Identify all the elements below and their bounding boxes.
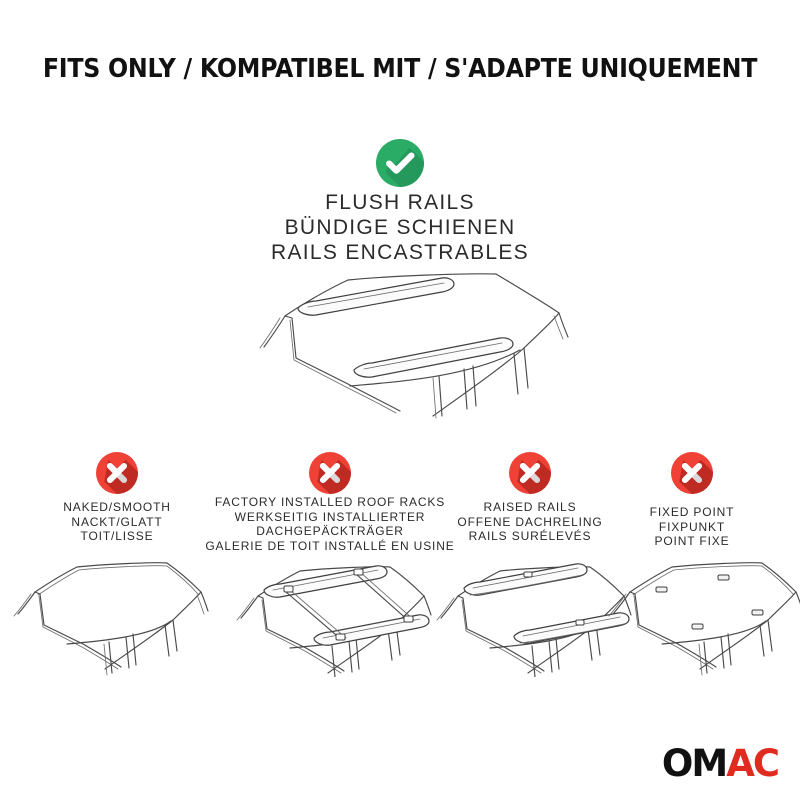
omac-logo: OMAC bbox=[662, 745, 778, 782]
label-line-1: FIXED POINT bbox=[612, 505, 772, 520]
label-line-1: RAISED RAILS bbox=[432, 500, 628, 515]
incompatible-label-factory-roof-racks: FACTORY INSTALLED ROOF RACKS WERKSEITIG … bbox=[196, 495, 464, 553]
label-line-2: OFFENE DACHRELING bbox=[432, 515, 628, 530]
page-title: FITS ONLY / KOMPATIBEL MIT / S'ADAPTE UN… bbox=[28, 54, 772, 84]
cross-circle-icon bbox=[671, 452, 713, 494]
label-line-3: POINT FIXE bbox=[612, 534, 772, 549]
label-line-2: FIXPUNKT bbox=[612, 520, 772, 535]
label-line-2: WERKSEITIG INSTALLIERTER bbox=[196, 510, 464, 525]
label-line-3: DACHGEPÄCKTRÄGER bbox=[196, 524, 464, 539]
car-roof-fixed-point-illustration bbox=[600, 552, 800, 677]
compatible-label-line-2: BÜNDIGE SCHIENEN bbox=[0, 215, 800, 240]
compatible-label-line-1: FLUSH RAILS bbox=[0, 190, 800, 215]
label-line-1: FACTORY INSTALLED ROOF RACKS bbox=[196, 495, 464, 510]
check-circle-icon bbox=[376, 139, 424, 187]
car-roof-naked-smooth-illustration bbox=[5, 552, 217, 677]
incompatible-label-raised-rails: RAISED RAILS OFFENE DACHRELING RAILS SUR… bbox=[432, 500, 628, 544]
cross-circle-icon bbox=[309, 452, 351, 494]
logo-text-ac: AC bbox=[726, 742, 778, 785]
cross-circle-icon bbox=[96, 452, 138, 494]
logo-text-om: OM bbox=[662, 742, 726, 785]
compatible-label-line-3: RAILS ENCASTRABLES bbox=[0, 240, 800, 265]
car-roof-flush-rails-illustration bbox=[228, 266, 588, 434]
incompatible-label-fixed-point: FIXED POINT FIXPUNKT POINT FIXE bbox=[612, 505, 772, 549]
compatible-label: FLUSH RAILS BÜNDIGE SCHIENEN RAILS ENCAS… bbox=[0, 190, 800, 265]
label-line-3: RAILS SURÉLEVÉS bbox=[432, 529, 628, 544]
fitment-chart: FITS ONLY / KOMPATIBEL MIT / S'ADAPTE UN… bbox=[0, 0, 800, 800]
car-roof-factory-roof-racks-illustration bbox=[228, 552, 440, 677]
cross-circle-icon bbox=[509, 452, 551, 494]
